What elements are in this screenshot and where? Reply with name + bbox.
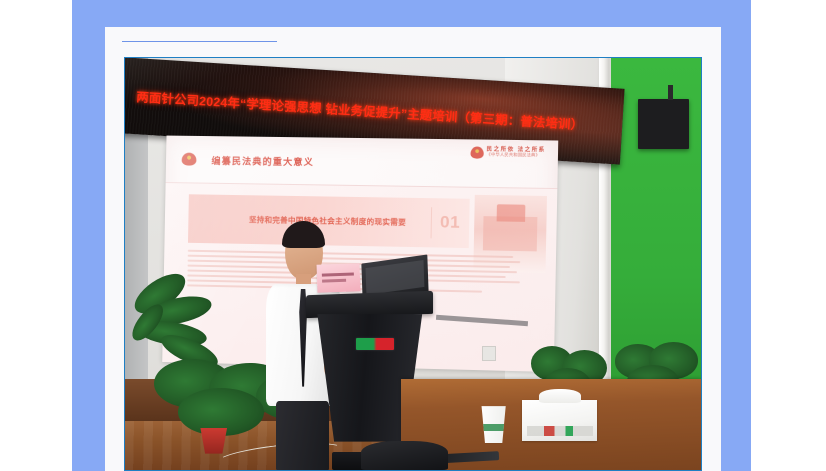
training-session-photo: 两面针公司2024年“学理论强思想 钻业务促提升”主题培训（第三期：普法培训） … <box>125 58 701 470</box>
podium-top <box>306 291 433 318</box>
section-divider <box>122 41 277 42</box>
slide-title: 编纂民法典的重大意义 <box>211 153 314 168</box>
wall-mounted-speaker <box>638 99 690 148</box>
podium-logo <box>356 338 394 349</box>
slide-section-number: 01 <box>440 213 461 233</box>
slide-header: 编纂民法典的重大意义 民之所依 法之所系 《中华人民共和国民法典》 <box>165 136 557 190</box>
tissue-box-label <box>527 426 593 437</box>
dark-bag-object <box>361 441 447 470</box>
national-emblem-icon <box>181 153 196 166</box>
document-panel: 两面针公司2024年“学理论强思想 钻业务促提升”主题培训（第三期：普法培训） … <box>105 27 721 471</box>
wall-outlet <box>482 346 496 361</box>
slide-logo-sub-text: 《中华人民共和国民法典》 <box>486 153 545 159</box>
flower-pot <box>197 428 230 454</box>
photo-frame[interactable]: 两面针公司2024年“学理论强思想 钻业务促提升”主题培训（第三期：普法培训） … <box>124 57 702 471</box>
presenter-hair <box>282 221 325 248</box>
screenshot-stage: 两面针公司2024年“学理论强思想 钻业务促提升”主题培训（第三期：普法培训） … <box>0 0 826 471</box>
slide-section-divider <box>430 207 432 238</box>
slide-right-logo: 民之所依 法之所系 《中华人民共和国民法典》 <box>470 146 546 159</box>
national-emblem-icon-small <box>470 146 483 158</box>
tissue-box <box>522 400 597 441</box>
name-card <box>316 264 360 294</box>
led-banner-text: 两面针公司2024年“学理论强思想 钻业务促提升”主题培训（第三期：普法培训） <box>125 86 584 133</box>
